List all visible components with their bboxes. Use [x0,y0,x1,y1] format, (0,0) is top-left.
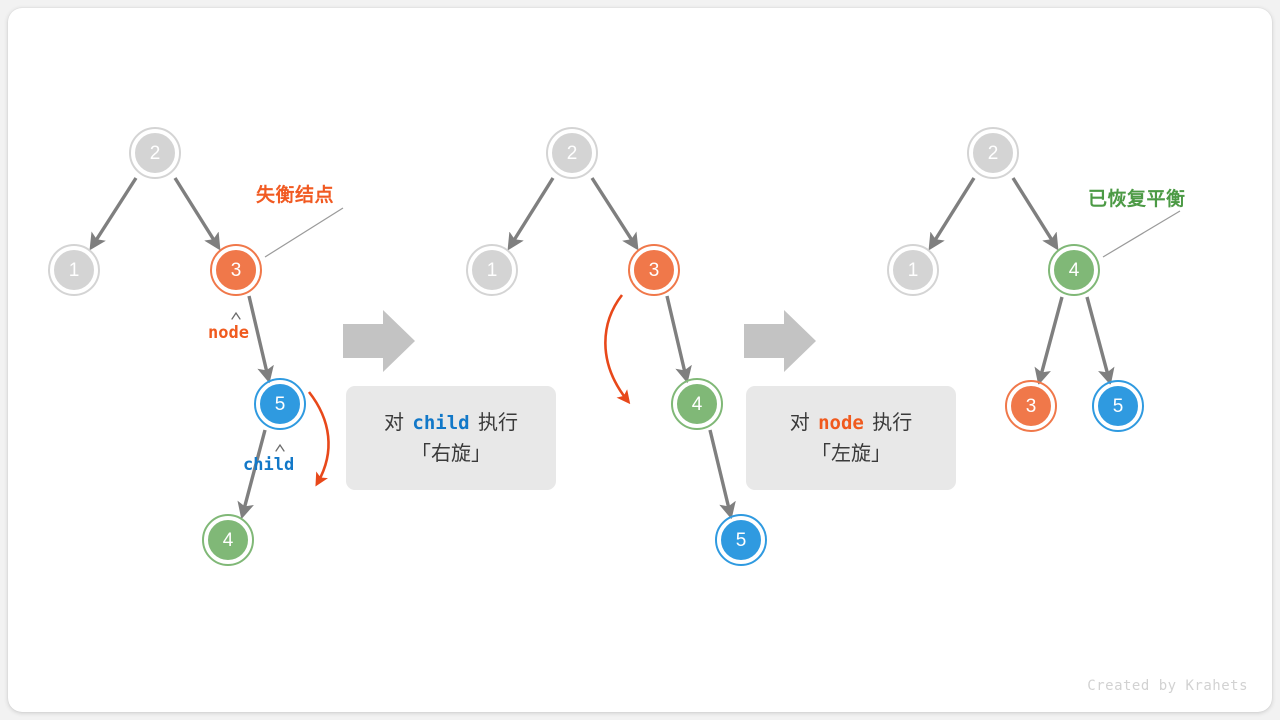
tree-node[interactable]: 2 [132,130,178,176]
node-value: 5 [736,531,747,550]
step-suffix: 执行 [872,410,912,434]
balanced-callout: 已恢复平衡 [1088,184,1186,211]
tree-node[interactable]: 4 [205,517,251,563]
node-value: 2 [988,144,999,163]
step-suffix: 执行 [478,410,518,434]
child-caret [276,445,284,451]
node-caret [232,313,240,319]
edge-2-to-1 [511,178,553,245]
vector-layer [0,0,1280,720]
transition-arrows [343,310,816,372]
step-prefix: 对 [790,410,810,434]
step-code-token: node [816,412,866,434]
node-value: 4 [1069,261,1080,280]
tree-node[interactable]: 4 [674,381,720,427]
unbalanced-node-callout: 失衡结点 [256,180,334,207]
node-value: 1 [69,261,80,280]
node-value: 3 [1026,397,1037,416]
step-line-2: 「右旋」 [411,438,491,469]
step-line-1: 对 node 执行 [790,407,912,438]
credit-text: Created by Krahets [1087,678,1248,694]
step-prefix: 对 [384,410,404,434]
tree-node[interactable]: 3 [1008,383,1054,429]
step-box-right-rotation: 对 child 执行 「右旋」 [346,386,556,490]
node-value: 4 [223,531,234,550]
step-line-2: 「左旋」 [811,438,891,469]
node-value: 5 [275,395,286,414]
node-value: 3 [231,261,242,280]
edge-2-to-1 [93,178,136,245]
diagram-canvas: 2 1 3 5 4 node child 失衡结点 2 1 [0,0,1280,720]
tree-node[interactable]: 5 [718,517,764,563]
node-value: 5 [1113,397,1124,416]
node-value: 2 [567,144,578,163]
edge-4-to-5 [710,430,730,513]
tree-node[interactable]: 1 [469,247,515,293]
edge-2-to-4 [1013,178,1055,245]
edge-2-to-3 [175,178,217,245]
step-box-left-rotation: 对 node 执行 「左旋」 [746,386,956,490]
tree-node[interactable]: 2 [549,130,595,176]
tree-node[interactable]: 5 [1095,383,1141,429]
tree-node-balanced[interactable]: 4 [1051,247,1097,293]
edge-4-to-5 [1087,297,1109,379]
tree-node[interactable]: 1 [51,247,97,293]
node-value: 3 [649,261,660,280]
tree-node[interactable]: 2 [970,130,1016,176]
tree-node-child[interactable]: 5 [257,381,303,427]
node-value: 1 [487,261,498,280]
node-value: 1 [908,261,919,280]
edge-3-to-5 [249,296,268,377]
callout-leader-3 [1103,211,1180,257]
edge-3-to-4 [667,296,686,377]
node-pointer-label: node [208,323,249,343]
rotation-arrow-left [605,295,627,400]
step-code-token: child [410,412,471,434]
rotation-arrow-right [309,392,329,482]
tree-node[interactable]: 1 [890,247,936,293]
transition-arrow-2 [744,310,816,372]
tree-node-unbalanced[interactable]: 3 [631,247,677,293]
stage-1-edges [93,178,268,513]
node-value: 4 [692,395,703,414]
node-value: 2 [150,144,161,163]
edge-2-to-1 [932,178,974,245]
callout-leader-1 [265,208,343,257]
step-line-1: 对 child 执行 [384,407,518,438]
transition-arrow-1 [343,310,415,372]
tree-node-unbalanced[interactable]: 3 [213,247,259,293]
edge-2-to-3 [592,178,635,245]
child-pointer-label: child [243,455,294,475]
edge-4-to-3 [1040,297,1062,379]
